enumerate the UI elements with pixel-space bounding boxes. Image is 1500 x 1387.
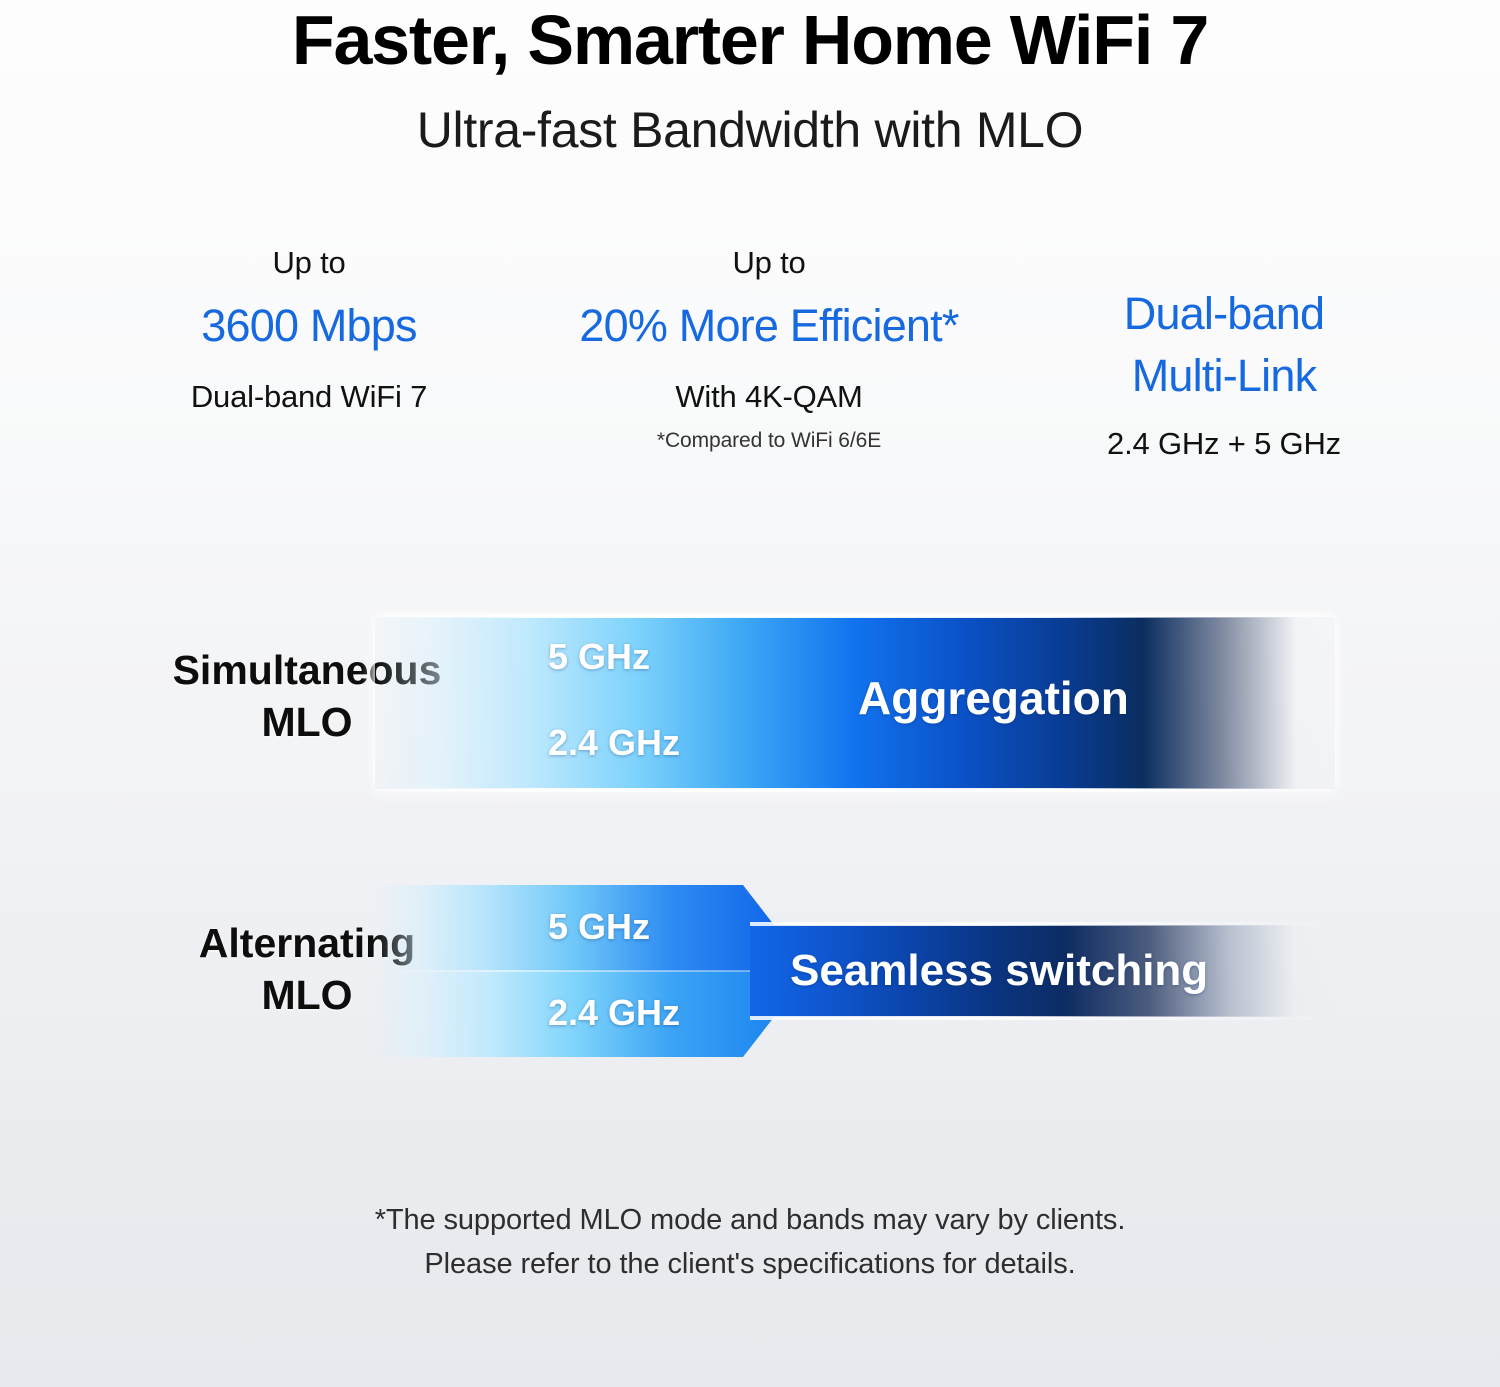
alternating-mlo-label-line-1: Alternating: [199, 920, 415, 966]
stat-footnote: *Compared to WiFi 6/6E: [534, 417, 1004, 455]
disclaimer-line-2: Please refer to the client's specificati…: [0, 1242, 1500, 1286]
stat-card-efficiency: Up to 20% More Efficient* With 4K-QAM *C…: [534, 243, 1004, 455]
stat-eyebrow: Up to: [534, 243, 1004, 283]
stat-value-line-2: Multi-Link: [1132, 350, 1317, 401]
simultaneous-mlo-label-line-2: MLO: [157, 696, 457, 748]
page-title: Faster, Smarter Home WiFi 7: [0, 0, 1500, 78]
alternating-band-seam: [375, 970, 775, 972]
alternating-mlo-label: Alternating MLO: [157, 917, 457, 1021]
alternating-mlo-band-merged: [750, 925, 1335, 1017]
stat-caption: Dual-band WiFi 7: [84, 353, 534, 417]
alternating-band-result-label: Seamless switching: [790, 946, 1208, 996]
simultaneous-mlo-label: Simultaneous MLO: [157, 644, 457, 748]
stat-value: 20% More Efficient*: [534, 283, 1004, 353]
alternating-mlo-label-line-2: MLO: [157, 969, 457, 1021]
alternating-band-24ghz-label: 2.4 GHz: [548, 992, 680, 1034]
stat-card-multilink: Dual-band Multi-Link 2.4 GHz + 5 GHz: [1014, 243, 1434, 464]
stats-row: Up to 3600 Mbps Dual-band WiFi 7 Up to 2…: [0, 243, 1500, 464]
simultaneous-mlo-label-line-1: Simultaneous: [173, 647, 442, 693]
stat-caption: 2.4 GHz + 5 GHz: [1014, 407, 1434, 464]
stat-card-speed: Up to 3600 Mbps Dual-band WiFi 7: [84, 243, 534, 417]
mlo-diagram: Simultaneous MLO 5 GHz 2.4 GHz Aggregati…: [0, 0, 1500, 1387]
alternating-mlo-band-split: [375, 885, 775, 1057]
stat-caption: With 4K-QAM: [534, 353, 1004, 417]
disclaimer-line-1: *The supported MLO mode and bands may va…: [0, 1198, 1500, 1242]
stat-value: Dual-band Multi-Link: [1014, 283, 1434, 407]
stat-value: 3600 Mbps: [84, 283, 534, 353]
alternating-band-5ghz-label: 5 GHz: [548, 906, 650, 948]
simultaneous-band-result-label: Aggregation: [858, 671, 1129, 725]
header: Faster, Smarter Home WiFi 7 Ultra-fast B…: [0, 0, 1500, 158]
page-subtitle: Ultra-fast Bandwidth with MLO: [0, 78, 1500, 158]
simultaneous-mlo-band: [375, 617, 1335, 789]
stat-eyebrow: Up to: [84, 243, 534, 283]
simultaneous-band-24ghz-label: 2.4 GHz: [548, 722, 680, 764]
stat-value-line-1: Dual-band: [1124, 288, 1324, 339]
disclaimer: *The supported MLO mode and bands may va…: [0, 1198, 1500, 1286]
simultaneous-band-5ghz-label: 5 GHz: [548, 636, 650, 678]
alternating-band-5ghz-stripe: [375, 885, 775, 971]
alternating-band-24ghz-stripe: [375, 971, 775, 1057]
